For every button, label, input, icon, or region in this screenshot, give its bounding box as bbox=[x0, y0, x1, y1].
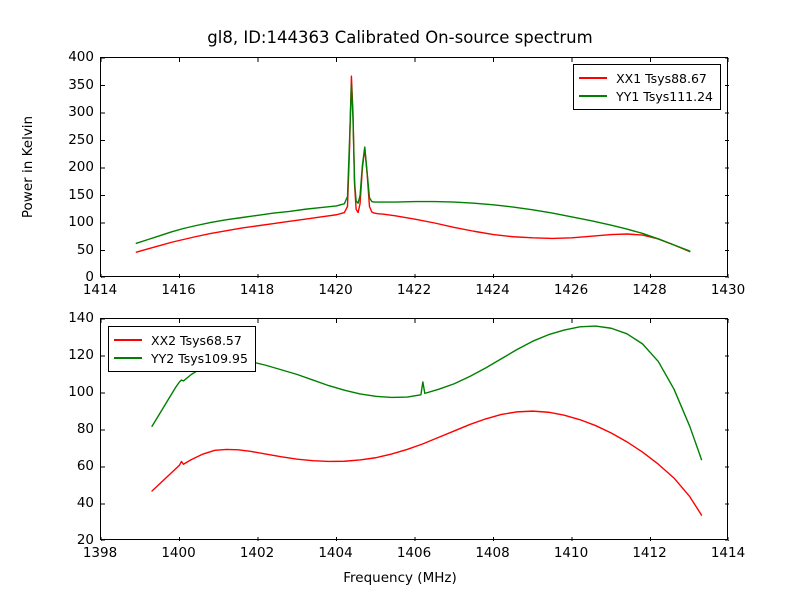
y-tick-label: 60 bbox=[44, 458, 94, 474]
y-tick-label: 250 bbox=[44, 132, 94, 148]
page-title: gl8, ID:144363 Calibrated On-source spec… bbox=[0, 28, 800, 47]
y-tick-label: 20 bbox=[44, 532, 94, 548]
x-tick-label: 1418 bbox=[240, 282, 274, 298]
legend-item: XX2 Tsys68.57 bbox=[114, 331, 248, 349]
y-tick-label: 400 bbox=[44, 49, 94, 65]
y-tick-label: 350 bbox=[44, 77, 94, 93]
x-tick-label: 1410 bbox=[554, 545, 588, 561]
y-tick-label: 140 bbox=[44, 310, 94, 326]
legend-swatch-xx2 bbox=[114, 339, 142, 341]
top-plot-y-axis-title: Power in Kelvin bbox=[20, 116, 36, 218]
x-tick-label: 1402 bbox=[240, 545, 274, 561]
y-tick-label: 80 bbox=[44, 421, 94, 437]
bottom-plot-axes: XX2 Tsys68.57 YY2 Tsys109.95 bbox=[100, 318, 728, 540]
x-tick-label: 1416 bbox=[161, 282, 195, 298]
x-tick-label: 1412 bbox=[632, 545, 666, 561]
legend-label-xx2: XX2 Tsys68.57 bbox=[151, 333, 242, 348]
y-tick-label: 0 bbox=[44, 269, 94, 285]
y-tick-label: 120 bbox=[44, 347, 94, 363]
legend-label-yy1: YY1 Tsys111.24 bbox=[616, 89, 713, 104]
legend-swatch-yy2 bbox=[114, 357, 142, 359]
x-tick-label: 1426 bbox=[554, 282, 588, 298]
y-tick-label: 100 bbox=[44, 214, 94, 230]
legend-item: YY1 Tsys111.24 bbox=[579, 87, 713, 105]
legend-label-xx1: XX1 Tsys88.67 bbox=[616, 71, 707, 86]
top-plot-legend: XX1 Tsys88.67 YY1 Tsys111.24 bbox=[573, 64, 721, 110]
y-tick-label: 50 bbox=[44, 242, 94, 258]
figure-canvas: gl8, ID:144363 Calibrated On-source spec… bbox=[0, 0, 800, 600]
legend-swatch-yy1 bbox=[579, 95, 607, 97]
top-plot-axes: XX1 Tsys88.67 YY1 Tsys111.24 bbox=[100, 57, 728, 277]
bottom-plot-x-axis-title: Frequency (MHz) bbox=[343, 570, 456, 586]
x-tick-label: 1406 bbox=[397, 545, 431, 561]
y-tick-label: 100 bbox=[44, 384, 94, 400]
x-tick-label: 1414 bbox=[711, 545, 745, 561]
x-tick-label: 1422 bbox=[397, 282, 431, 298]
x-tick-label: 1430 bbox=[711, 282, 745, 298]
legend-item: XX1 Tsys88.67 bbox=[579, 69, 713, 87]
legend-swatch-xx1 bbox=[579, 77, 607, 79]
x-tick-label: 1408 bbox=[475, 545, 509, 561]
y-tick-label: 200 bbox=[44, 159, 94, 175]
legend-label-yy2: YY2 Tsys109.95 bbox=[151, 351, 248, 366]
x-tick-label: 1424 bbox=[475, 282, 509, 298]
x-tick-label: 1404 bbox=[318, 545, 352, 561]
x-tick-label: 1400 bbox=[161, 545, 195, 561]
y-tick-label: 150 bbox=[44, 187, 94, 203]
bottom-plot-legend: XX2 Tsys68.57 YY2 Tsys109.95 bbox=[108, 326, 256, 372]
x-tick-label: 1428 bbox=[632, 282, 666, 298]
y-tick-label: 40 bbox=[44, 495, 94, 511]
series-line bbox=[152, 411, 702, 515]
legend-item: YY2 Tsys109.95 bbox=[114, 349, 248, 367]
x-tick-label: 1420 bbox=[318, 282, 352, 298]
y-tick-label: 300 bbox=[44, 104, 94, 120]
